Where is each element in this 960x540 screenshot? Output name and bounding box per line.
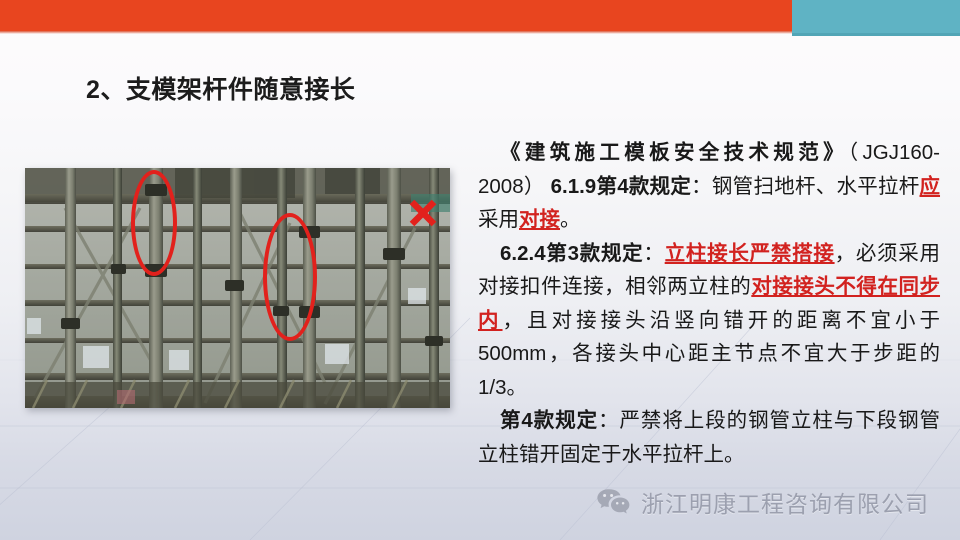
clause-4: 第4款规定 <box>500 409 598 432</box>
watermark-company: 浙江明康工程咨询有限公司 <box>641 485 929 519</box>
standard-name: 《建筑施工模板安全技术规范》 <box>500 141 848 164</box>
para2-text-b: ，且对接接头沿竖向错开的距离不宜小于500mm，各接头中心距主节点不宜大于步距的… <box>478 309 940 399</box>
para1-red-ying: 应 <box>920 175 941 198</box>
page-title: 2、支模架杆件随意接长 <box>86 70 355 106</box>
colon-2: ： <box>643 242 664 265</box>
para1-text-a: 钢管扫地杆、水平拉杆 <box>712 175 920 198</box>
header-band-orange <box>0 0 792 31</box>
regulation-text-block: 《建筑施工模板安全技术规范》（JGJ160-2008） 6.1.9第4款规定：钢… <box>478 136 940 471</box>
clause-619: 6.1.9第4款规定 <box>551 175 692 198</box>
para1-period: 。 <box>560 208 581 231</box>
para1-text-b: 采用 <box>478 208 519 231</box>
wechat-icon <box>596 487 630 517</box>
colon-1: ： <box>691 175 712 198</box>
photo-image <box>25 168 450 408</box>
header-band-teal <box>792 0 960 36</box>
para2-red-a: 立柱接长严禁搭接 <box>665 242 835 265</box>
slide-canvas: 2、支模架杆件随意接长 <box>0 0 960 540</box>
para1-red-duijie: 对接 <box>519 208 560 231</box>
paragraph-3: 第4款规定：严禁将上段的钢管立柱与下段钢管立柱错开固定于水平拉杆上。 <box>478 404 940 471</box>
watermark: 浙江明康工程咨询有限公司 <box>596 485 929 519</box>
annotation-ellipse-left <box>131 170 177 276</box>
colon-3: ： <box>598 409 619 432</box>
paragraph-1: 《建筑施工模板安全技术规范》（JGJ160-2008） 6.1.9第4款规定：钢… <box>478 136 940 237</box>
paragraph-2: 6.2.4第3款规定：立柱接长严禁搭接，必须采用对接扣件连接，相邻两立柱的对接接… <box>478 237 940 405</box>
annotation-ellipse-right <box>263 213 317 341</box>
photo-content <box>25 168 450 408</box>
clause-624: 6.2.4第3款规定 <box>500 242 643 265</box>
scaffolding-photo <box>25 168 450 408</box>
